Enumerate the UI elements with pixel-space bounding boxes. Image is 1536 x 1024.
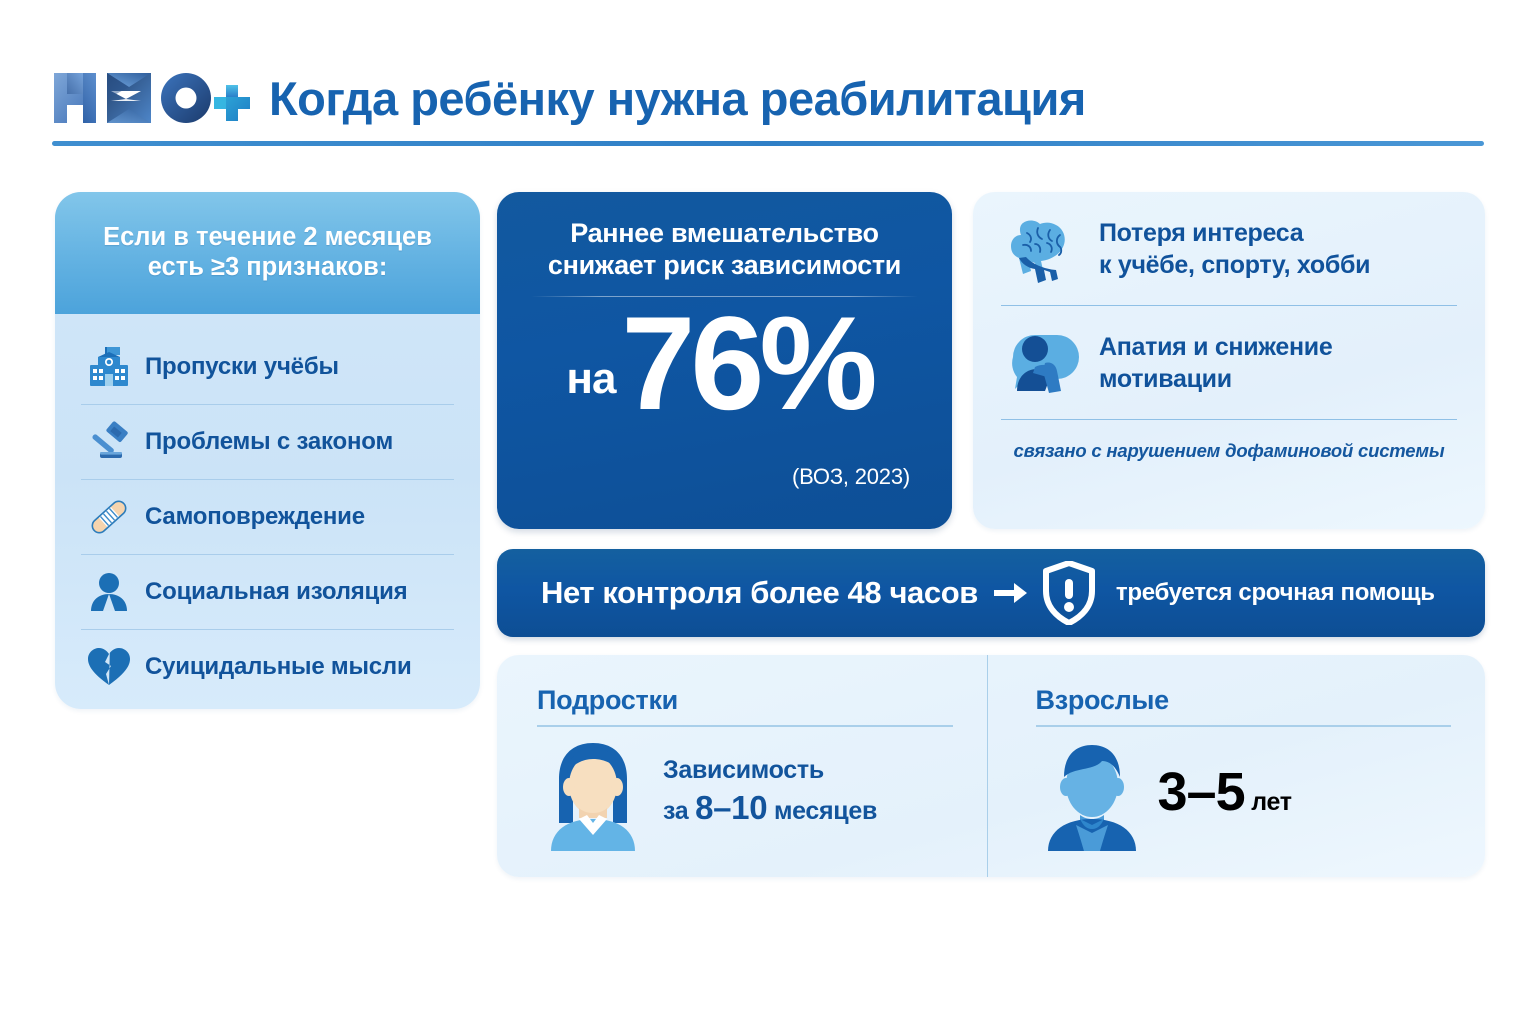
- teens-value: 8–10: [695, 789, 767, 826]
- warning-signs-card: Если в течение 2 месяцев есть ≥3 признак…: [55, 192, 480, 709]
- list-item: Пропуски учёбы: [81, 330, 454, 404]
- stat-heading-line-1: Раннее вмешательство: [523, 217, 926, 249]
- symptoms-card: Потеря интереса к учёбе, спорту, хобби А…: [973, 192, 1485, 529]
- gavel-icon: [81, 417, 137, 467]
- stat-value: 76%: [621, 301, 872, 427]
- warning-signs-list: Пропуски учёбы Проблемы с законом: [55, 314, 480, 709]
- timeline-compare-card: Подростки Зависимость: [497, 655, 1485, 877]
- adults-title: Взрослые: [1036, 685, 1452, 716]
- symptoms-footnote: связано с нарушением дофаминовой системы: [1001, 419, 1457, 482]
- list-item-label: Пропуски учёбы: [145, 353, 339, 381]
- stat-prefix: на: [566, 354, 615, 404]
- sad-person-icon: [1001, 323, 1087, 403]
- adult-man-icon: [1036, 733, 1148, 851]
- alert-sub-text: требуется срочная помощь: [1116, 579, 1435, 607]
- page-title: Когда ребёнку нужна реабилитация: [269, 71, 1086, 126]
- person-icon: [81, 567, 137, 617]
- teens-divider: [537, 725, 953, 727]
- symptom-line-1: Потеря интереса: [1099, 219, 1303, 247]
- adults-duration: 3–5 лет: [1158, 761, 1292, 823]
- neo-plus-logo-icon: [50, 67, 255, 129]
- bandage-icon: [81, 492, 137, 542]
- teens-body: Зависимость за 8–10 месяцев: [537, 733, 953, 851]
- list-item-label: Социальная изоляция: [145, 578, 407, 606]
- adults-column: Взрослые 3–5: [987, 655, 1486, 877]
- symptom-item: Потеря интереса к учёбе, спорту, хобби: [1001, 192, 1457, 305]
- page-header: Когда ребёнку нужна реабилитация: [50, 48, 1486, 148]
- stat-heading: Раннее вмешательство снижает риск зависи…: [497, 192, 952, 282]
- list-item: Социальная изоляция: [81, 554, 454, 629]
- teens-column: Подростки Зависимость: [497, 655, 987, 877]
- heading-line-2: есть ≥3 признаков:: [148, 253, 388, 283]
- symptom-line-2: к учёбе, спорту, хобби: [1099, 251, 1370, 279]
- stat-source: (ВОЗ, 2023): [792, 464, 910, 490]
- stat-value-row: на 76%: [497, 301, 952, 427]
- teens-title: Подростки: [537, 685, 953, 716]
- heading-line-1: Если в течение 2 месяцев: [103, 223, 432, 253]
- header-divider: [52, 141, 1484, 146]
- broken-heart-icon: [81, 642, 137, 692]
- urgent-alert-bar: Нет контроля более 48 часов требуется ср…: [497, 549, 1485, 637]
- symptom-label: Потеря интереса к учёбе, спорту, хобби: [1099, 217, 1370, 281]
- stat-heading-line-2: снижает риск зависимости: [523, 249, 926, 281]
- brain-icon: [1001, 209, 1087, 289]
- symptom-line-1: Апатия и снижение: [1099, 333, 1332, 361]
- adults-unit: лет: [1251, 788, 1291, 816]
- list-item: Проблемы с законом: [81, 404, 454, 479]
- symptom-line-2: мотивации: [1099, 365, 1232, 393]
- symptom-item: Апатия и снижение мотивации: [1001, 305, 1457, 419]
- teens-prefix: за: [663, 797, 688, 825]
- list-item-label: Суицидальные мысли: [145, 653, 412, 681]
- symptom-label: Апатия и снижение мотивации: [1099, 331, 1332, 395]
- early-intervention-stat-card: Раннее вмешательство снижает риск зависи…: [497, 192, 952, 529]
- teens-unit: месяцев: [774, 797, 877, 825]
- teens-line-1: Зависимость: [663, 756, 877, 785]
- shield-alert-icon: [1042, 561, 1096, 625]
- school-icon: [81, 342, 137, 392]
- infographic-page: Когда ребёнку нужна реабилитация Если в …: [0, 0, 1536, 1024]
- adults-value: 3–5: [1158, 762, 1245, 822]
- list-item-label: Проблемы с законом: [145, 428, 393, 456]
- arrow-right-icon: [994, 580, 1028, 606]
- teen-girl-icon: [537, 733, 649, 851]
- warning-signs-heading: Если в течение 2 месяцев есть ≥3 признак…: [55, 192, 480, 314]
- adults-divider: [1036, 725, 1452, 727]
- list-item: Суицидальные мысли: [81, 629, 454, 704]
- alert-main-text: Нет контроля более 48 часов: [541, 575, 978, 611]
- teens-line-2: за 8–10 месяцев: [663, 789, 877, 827]
- list-item-label: Самоповреждение: [145, 503, 365, 531]
- teens-text: Зависимость за 8–10 месяцев: [663, 756, 877, 827]
- adults-body: 3–5 лет: [1036, 733, 1452, 851]
- list-item: Самоповреждение: [81, 479, 454, 554]
